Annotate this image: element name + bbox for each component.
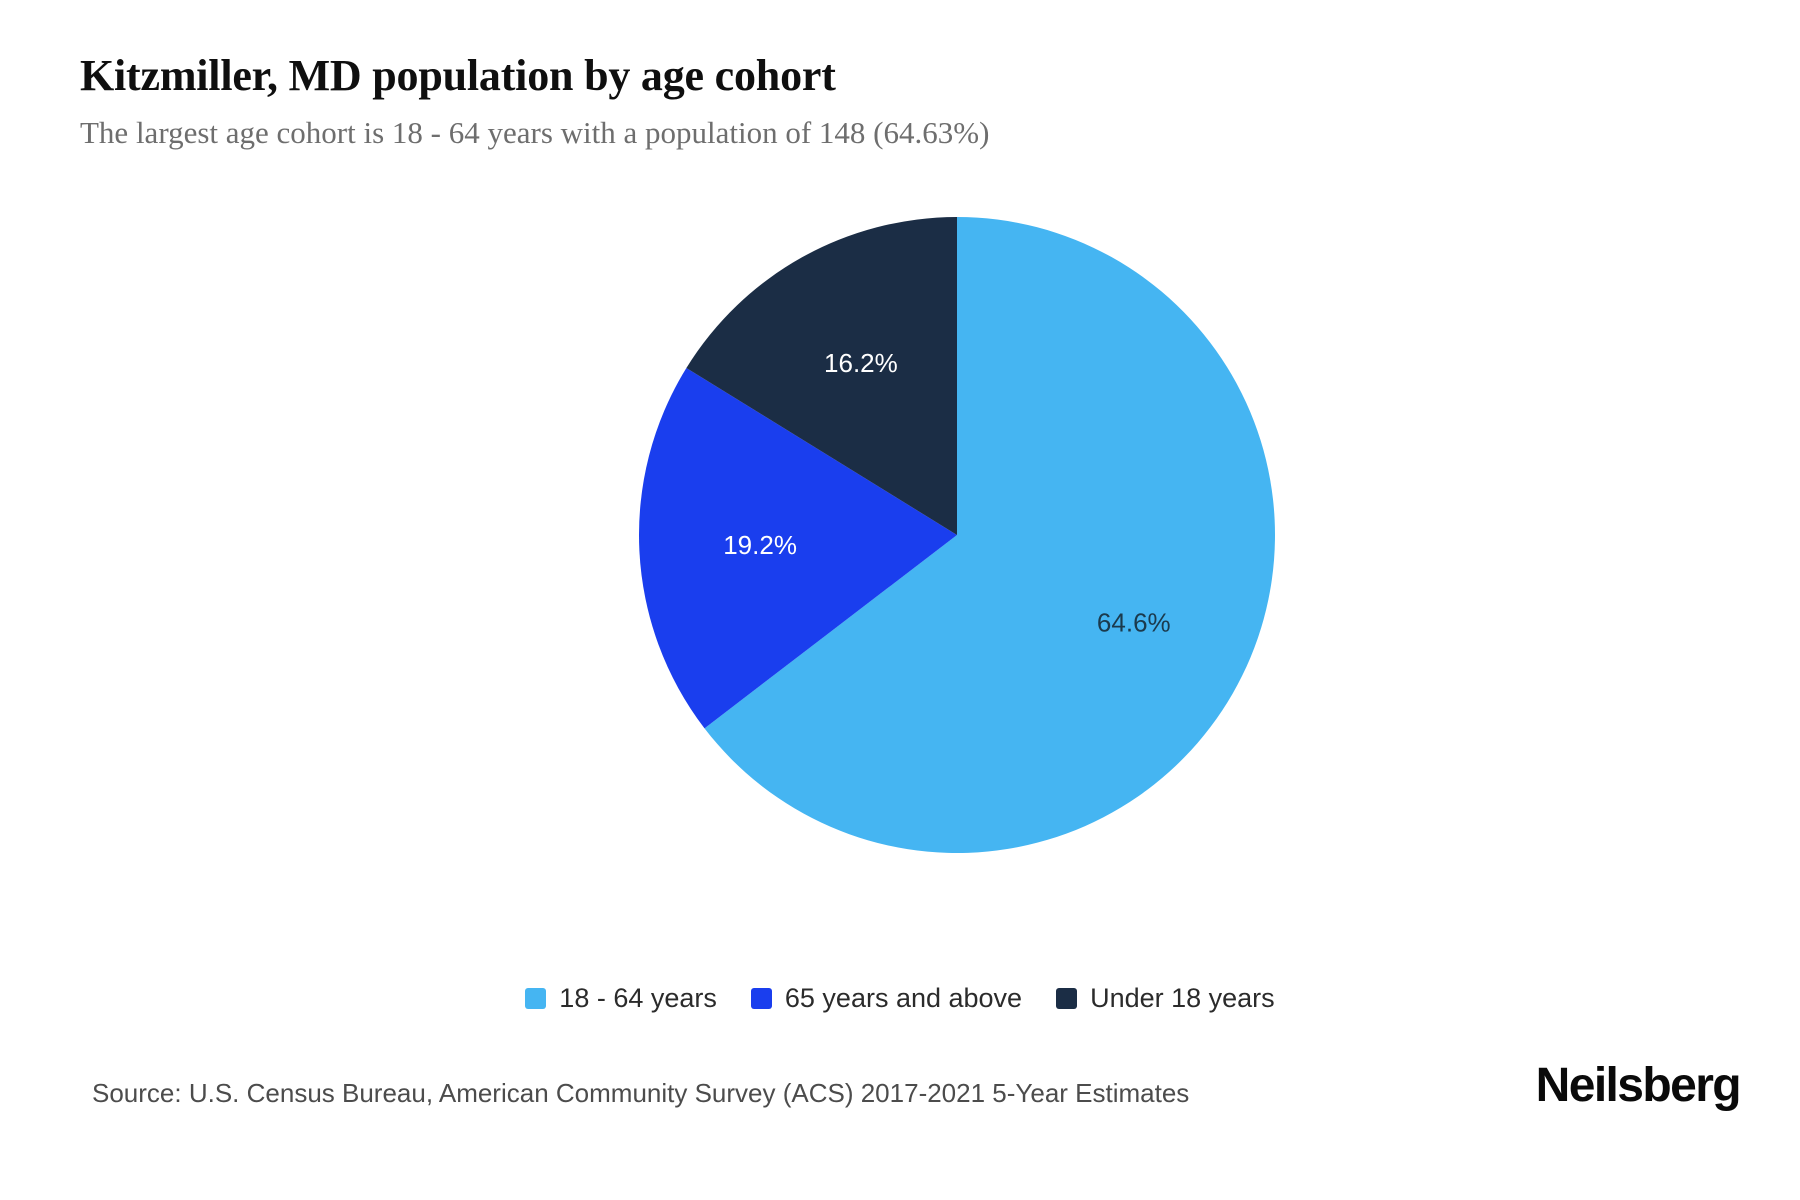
legend-item-label: 18 - 64 years	[559, 985, 717, 1012]
legend-item-label: Under 18 years	[1090, 985, 1275, 1012]
brand-logo: Neilsberg	[1536, 1058, 1740, 1113]
legend-item[interactable]: Under 18 years	[1056, 985, 1275, 1012]
pie-chart: 64.6%19.2%16.2%	[637, 215, 1277, 855]
chart-subtitle: The largest age cohort is 18 - 64 years …	[80, 114, 1680, 151]
chart-header: Kitzmiller, MD population by age cohort …	[80, 52, 1680, 152]
page-title: Kitzmiller, MD population by age cohort	[80, 52, 1680, 100]
chart-legend: 18 - 64 years65 years and aboveUnder 18 …	[0, 985, 1800, 1012]
legend-swatch-icon	[1056, 988, 1077, 1009]
pie-chart-plot-area: 64.6%19.2%16.2%	[0, 215, 1800, 925]
pie-slice-data-label: 16.2%	[824, 348, 898, 378]
legend-swatch-icon	[751, 988, 772, 1009]
legend-item-label: 65 years and above	[785, 985, 1022, 1012]
pie-slice-data-label: 64.6%	[1097, 607, 1171, 637]
legend-item[interactable]: 18 - 64 years	[525, 985, 717, 1012]
legend-swatch-icon	[525, 988, 546, 1009]
source-note: Source: U.S. Census Bureau, American Com…	[92, 1078, 1189, 1109]
pie-slice-data-label: 19.2%	[723, 530, 797, 560]
legend-item[interactable]: 65 years and above	[751, 985, 1022, 1012]
